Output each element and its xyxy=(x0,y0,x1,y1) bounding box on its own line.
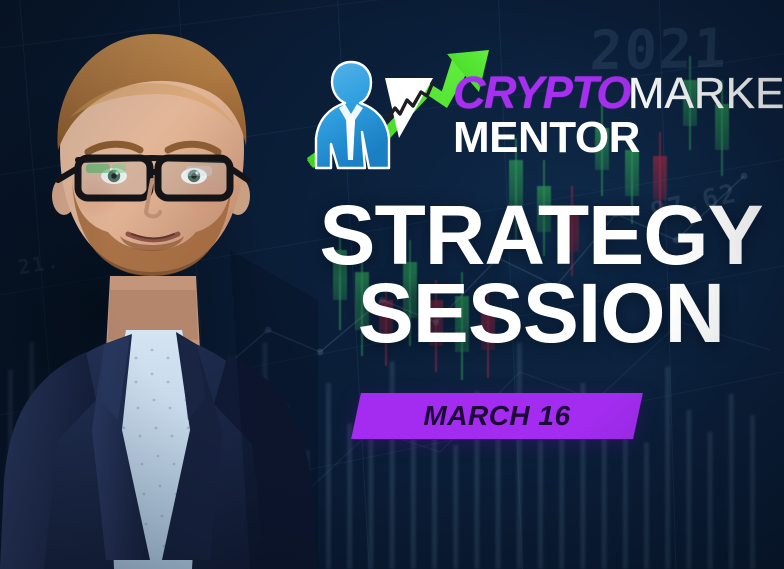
date-label: MARCH 16 xyxy=(423,400,570,432)
logo-word-market: MARKET xyxy=(628,69,784,118)
headline-line-2: SESSION xyxy=(306,274,776,352)
logo-wordmark: CRYPTOMARKET MENTOR xyxy=(453,72,783,163)
headline-block: STRATEGY SESSION xyxy=(306,196,776,352)
logo-word-mentor: MENTOR xyxy=(453,113,640,162)
date-banner: MARCH 16 xyxy=(351,393,643,439)
host-portrait xyxy=(0,0,318,569)
headline-line-1: STRATEGY xyxy=(306,196,776,274)
brand-logo: CRYPTOMARKET MENTOR xyxy=(307,48,777,173)
logo-word-crypto: CRYPTO xyxy=(453,67,630,118)
youtube-thumbnail: 2021 97.62 21. xyxy=(0,0,784,569)
businessman-silhouette-icon xyxy=(316,62,389,168)
